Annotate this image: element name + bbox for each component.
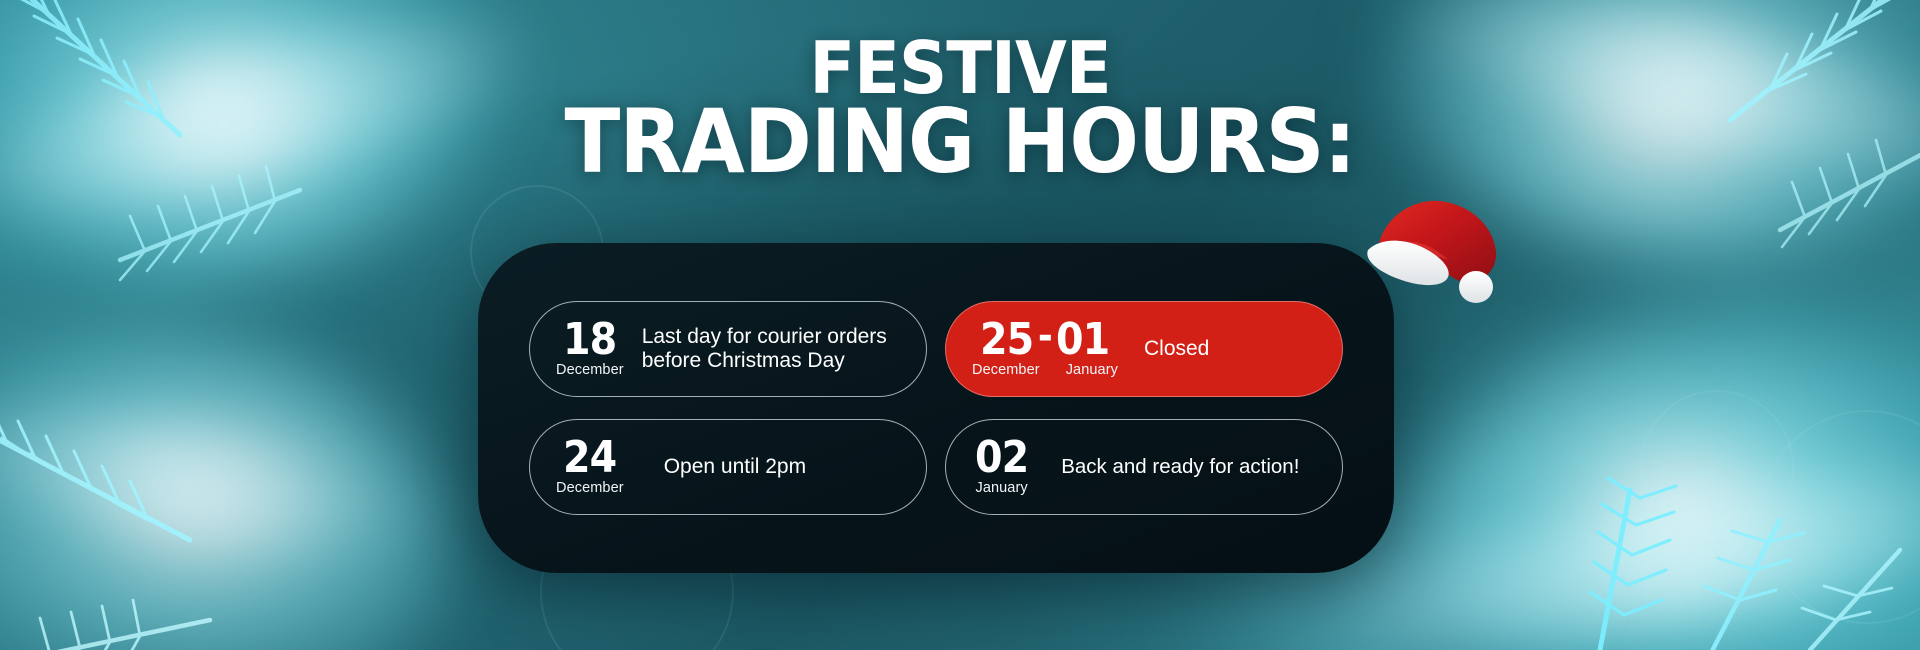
date-block: 02 January: [972, 438, 1031, 495]
trading-hours-card-closed: 25 - 01 December January Closed: [945, 301, 1343, 397]
light-streak-bottom-right: [1326, 445, 1920, 650]
day-row: 25 - 01: [977, 320, 1112, 360]
card-description: Back and ready for action!: [1061, 455, 1299, 479]
date-range-dash: -: [1038, 316, 1053, 356]
banner-title: FESTIVE TRADING HOURS:: [0, 38, 1920, 180]
bokeh-circle: [1760, 410, 1920, 624]
santa-hat-icon: [1360, 186, 1520, 306]
title-line-2: TRADING HOURS:: [67, 104, 1853, 180]
glow-bottom-left: [0, 330, 450, 650]
festive-trading-hours-banner: FESTIVE TRADING HOURS: 18 December Last …: [0, 0, 1920, 650]
day-row: 02: [972, 438, 1031, 478]
light-streak-bottom-left: [0, 390, 434, 565]
pine-branch-bottom-left: [0, 370, 380, 650]
trading-hours-card: 02 January Back and ready for action!: [945, 419, 1343, 515]
day-number-start: 25: [980, 320, 1033, 360]
trading-hours-panel: 18 December Last day for courier orders …: [478, 243, 1394, 573]
trading-hours-card-list: 18 December Last day for courier orders …: [478, 243, 1394, 573]
card-description: Open until 2pm: [664, 455, 806, 479]
card-description: Closed: [1144, 337, 1209, 361]
trading-hours-card: 18 December Last day for courier orders …: [529, 301, 927, 397]
day-row: 18: [560, 320, 619, 360]
day-number: 02: [975, 438, 1028, 478]
date-block: 18 December: [556, 320, 624, 377]
day-number-end: 01: [1056, 320, 1109, 360]
day-number: 18: [563, 320, 616, 360]
day-number: 24: [563, 438, 616, 478]
santa-hat-pompom: [1459, 271, 1493, 303]
date-block: 25 - 01 December January: [972, 320, 1118, 377]
bokeh-circle: [1640, 390, 1794, 544]
card-description: Last day for courier orders before Chris…: [642, 325, 900, 374]
trading-hours-card: 24 December Open until 2pm: [529, 419, 927, 515]
glow-bottom-right: [1430, 300, 1920, 650]
day-row: 24: [560, 438, 619, 478]
pine-branch-bottom-right: [1480, 400, 1920, 650]
date-block: 24 December: [556, 438, 624, 495]
